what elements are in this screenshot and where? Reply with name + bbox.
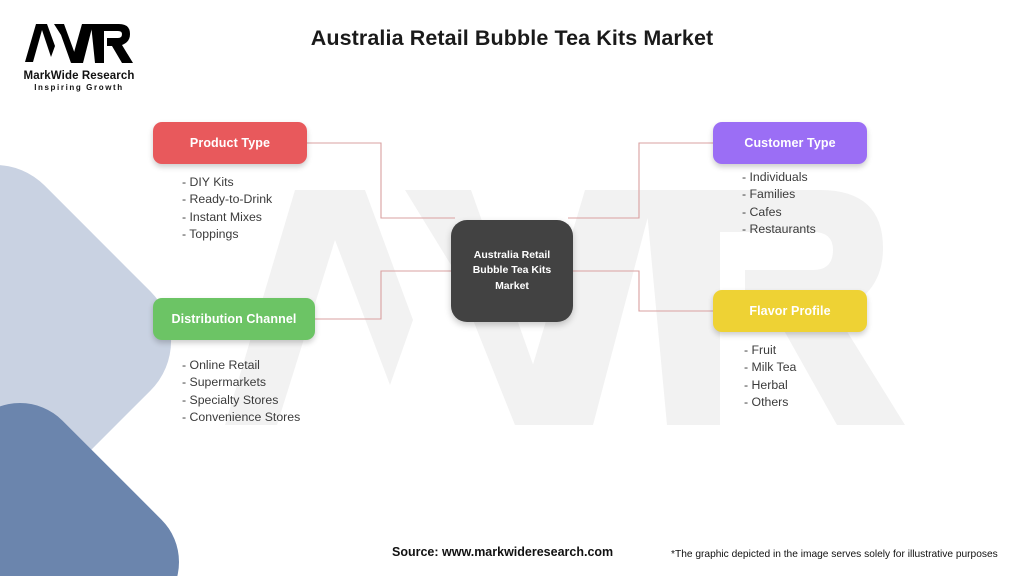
list-item: - Herbal [744, 377, 796, 394]
list-item: - Supermarkets [182, 374, 300, 391]
list-item: - Families [742, 186, 816, 203]
list-item: - Instant Mixes [182, 209, 272, 226]
list-item: - Restaurants [742, 221, 816, 238]
branch-list-flavor-profile: - Fruit - Milk Tea - Herbal - Others [744, 342, 796, 412]
list-item: - Ready-to-Drink [182, 191, 272, 208]
list-item: - Online Retail [182, 357, 300, 374]
branch-list-customer-type: - Individuals - Families - Cafes - Resta… [742, 169, 816, 239]
branch-box-distribution-channel[interactable]: Distribution Channel [153, 298, 315, 340]
list-item: - DIY Kits [182, 174, 272, 191]
disclaimer-text: *The graphic depicted in the image serve… [671, 549, 998, 560]
infographic-canvas: MarkWide Research Inspiring Growth Austr… [0, 0, 1024, 576]
center-node: Australia Retail Bubble Tea Kits Market [451, 220, 573, 322]
branch-label-product-type: Product Type [190, 136, 270, 150]
branch-label-customer-type: Customer Type [744, 136, 835, 150]
center-node-label: Australia Retail Bubble Tea Kits Market [465, 248, 560, 294]
list-item: - Milk Tea [744, 359, 796, 376]
branch-label-flavor-profile: Flavor Profile [749, 304, 830, 318]
branch-box-product-type[interactable]: Product Type [153, 122, 307, 164]
branch-box-flavor-profile[interactable]: Flavor Profile [713, 290, 867, 332]
list-item: - Specialty Stores [182, 392, 300, 409]
branch-label-distribution-channel: Distribution Channel [172, 312, 297, 326]
list-item: - Cafes [742, 204, 816, 221]
list-item: - Fruit [744, 342, 796, 359]
source-text: Source: www.markwideresearch.com [392, 545, 613, 559]
list-item: - Toppings [182, 226, 272, 243]
list-item: - Others [744, 394, 796, 411]
list-item: - Individuals [742, 169, 816, 186]
branch-list-product-type: - DIY Kits - Ready-to-Drink - Instant Mi… [182, 174, 272, 244]
branch-box-customer-type[interactable]: Customer Type [713, 122, 867, 164]
list-item: - Convenience Stores [182, 409, 300, 426]
branch-list-distribution-channel: - Online Retail - Supermarkets - Special… [182, 357, 300, 427]
